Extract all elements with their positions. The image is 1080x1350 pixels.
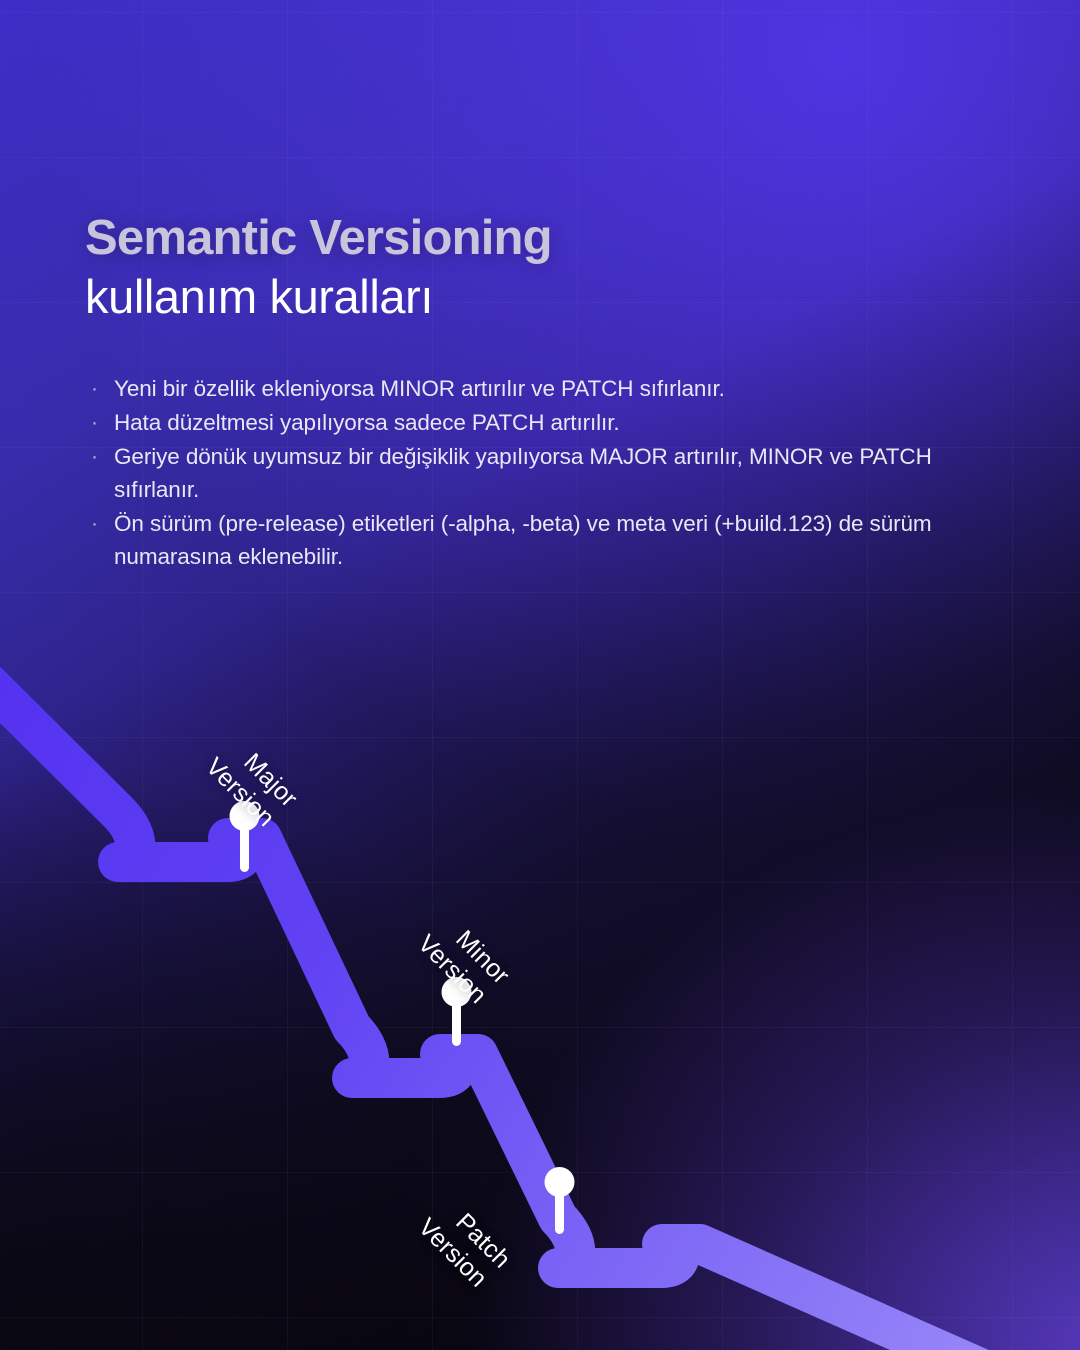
milestone-pins — [0, 0, 1080, 1350]
pin-patch[interactable] — [545, 1167, 575, 1234]
poster-canvas: Major Version Minor Version Patch Versio… — [0, 0, 1080, 1350]
